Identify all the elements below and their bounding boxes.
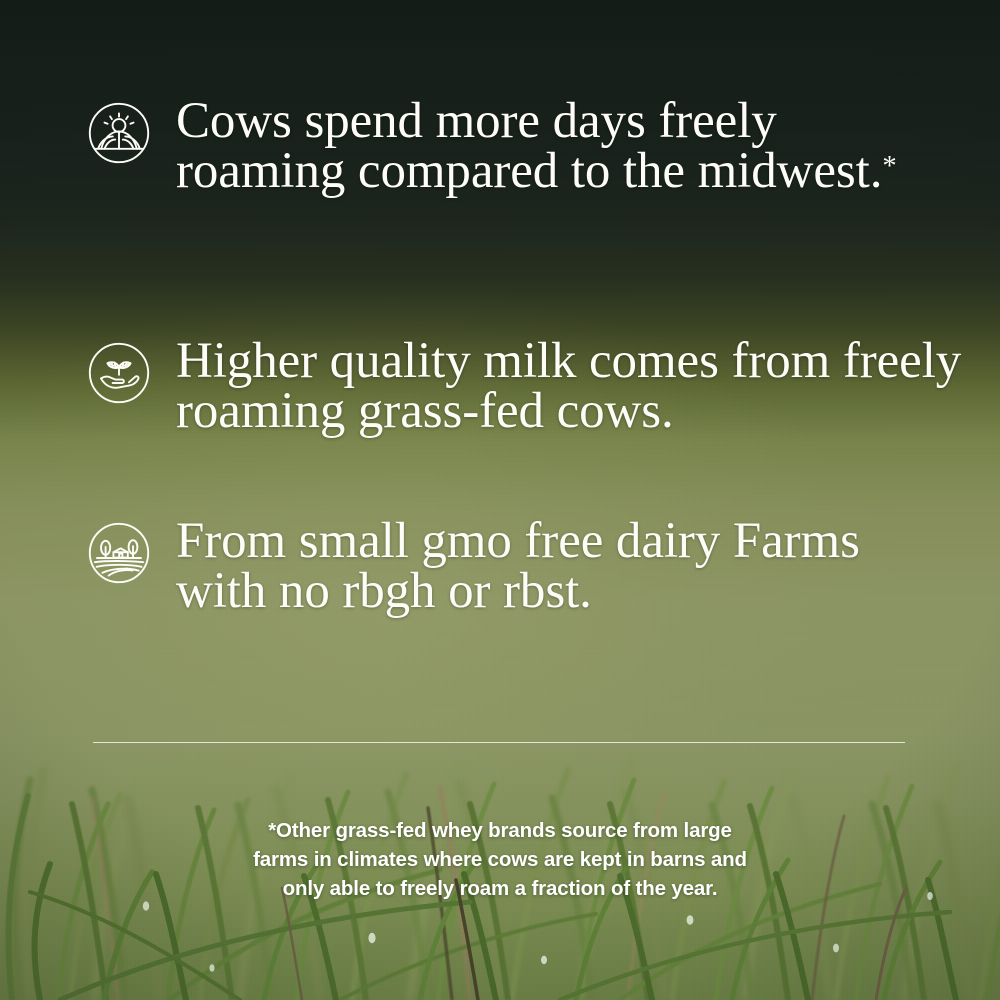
footnote-line-3: only able to freely roam a fraction of t…	[150, 874, 850, 903]
benefit-text-2: Higher quality milk comes from freely ro…	[176, 336, 966, 437]
promotional-graphic: Cows spend more days freely roaming comp…	[0, 0, 1000, 1000]
footnote-marker-1: *	[882, 152, 896, 183]
footnote-line-2: farms in climates where cows are kept in…	[150, 845, 850, 874]
sun-over-fields-icon	[88, 102, 150, 164]
benefit-item-1: Cows spend more days freely roaming comp…	[88, 96, 968, 197]
hand-holding-plant-icon	[88, 342, 150, 404]
farm-barn-fields-icon	[88, 522, 150, 584]
footnote: *Other grass-fed whey brands source from…	[150, 816, 850, 903]
benefit-item-3: From small gmo free dairy Farms with no …	[88, 516, 978, 617]
benefit-text-1: Cows spend more days freely roaming comp…	[176, 96, 901, 197]
benefit-item-2: Higher quality milk comes from freely ro…	[88, 336, 978, 437]
footnote-line-1: *Other grass-fed whey brands source from…	[150, 816, 850, 845]
benefit-text-3: From small gmo free dairy Farms with no …	[176, 516, 876, 617]
divider	[93, 742, 905, 743]
